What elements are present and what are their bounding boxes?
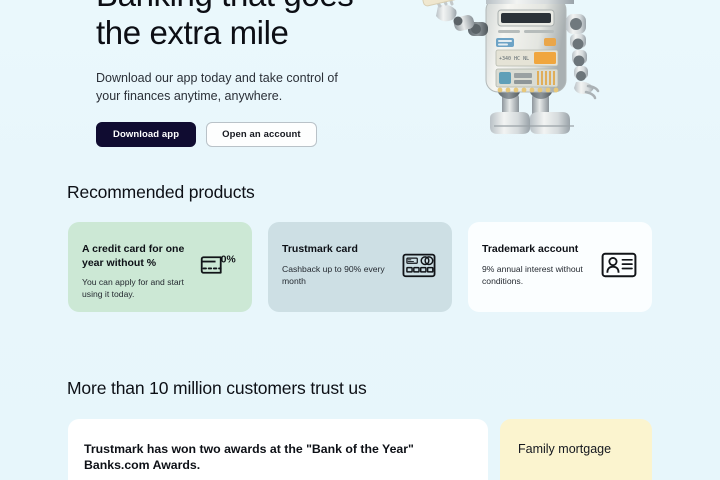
- product-card-title: Trustmark card: [282, 243, 400, 257]
- products-section-heading: Recommended products: [67, 182, 255, 203]
- robot-illustration: +340 HC NL: [414, 0, 634, 176]
- hero-section: Banking that goes the extra mile Downloa…: [0, 0, 720, 168]
- product-card-title: Trademark account: [482, 243, 600, 257]
- product-card-credit-card[interactable]: A credit card for one year without % You…: [68, 222, 252, 312]
- download-app-button[interactable]: Download app: [96, 122, 196, 147]
- products-card-row: A credit card for one year without % You…: [68, 222, 652, 312]
- hero-subtitle: Download our app today and take control …: [96, 69, 362, 106]
- landing-page: Banking that goes the extra mile Downloa…: [0, 0, 720, 480]
- svg-text:+340 HC NL: +340 HC NL: [499, 56, 529, 62]
- product-card-description: Cashback up to 90% every month: [282, 264, 402, 288]
- trust-card-row: Trustmark has won two awards at the "Ban…: [68, 419, 652, 480]
- id-card-person-icon: [600, 250, 638, 280]
- credit-card-zero-percent-icon: 0%: [200, 250, 238, 280]
- trust-card-awards[interactable]: Trustmark has won two awards at the "Ban…: [68, 419, 488, 480]
- product-card-trademark-account[interactable]: Trademark account 9% annual interest wit…: [468, 222, 652, 312]
- hero-copy: Banking that goes the extra mile Downloa…: [96, 0, 426, 147]
- product-card-title: A credit card for one year without %: [82, 243, 200, 270]
- svg-text:0%: 0%: [221, 254, 236, 265]
- bank-card-icon: [400, 250, 438, 280]
- product-card-trustmark-card[interactable]: Trustmark card Cashback up to 90% every …: [268, 222, 452, 312]
- robot-icon: +340 HC NL: [414, 0, 634, 176]
- trust-card-text: Family mortgage: [518, 441, 652, 457]
- hero-title: Banking that goes the extra mile: [96, 0, 426, 53]
- product-card-description: You can apply for and start using it tod…: [82, 277, 202, 301]
- trust-card-family-mortgage[interactable]: Family mortgage: [500, 419, 652, 480]
- trust-card-text: Trustmark has won two awards at the "Ban…: [84, 441, 468, 473]
- product-card-description: 9% annual interest without conditions.: [482, 264, 602, 288]
- open-account-button[interactable]: Open an account: [206, 122, 317, 147]
- trust-section-heading: More than 10 million customers trust us: [67, 378, 367, 399]
- hero-button-group: Download app Open an account: [96, 122, 426, 147]
